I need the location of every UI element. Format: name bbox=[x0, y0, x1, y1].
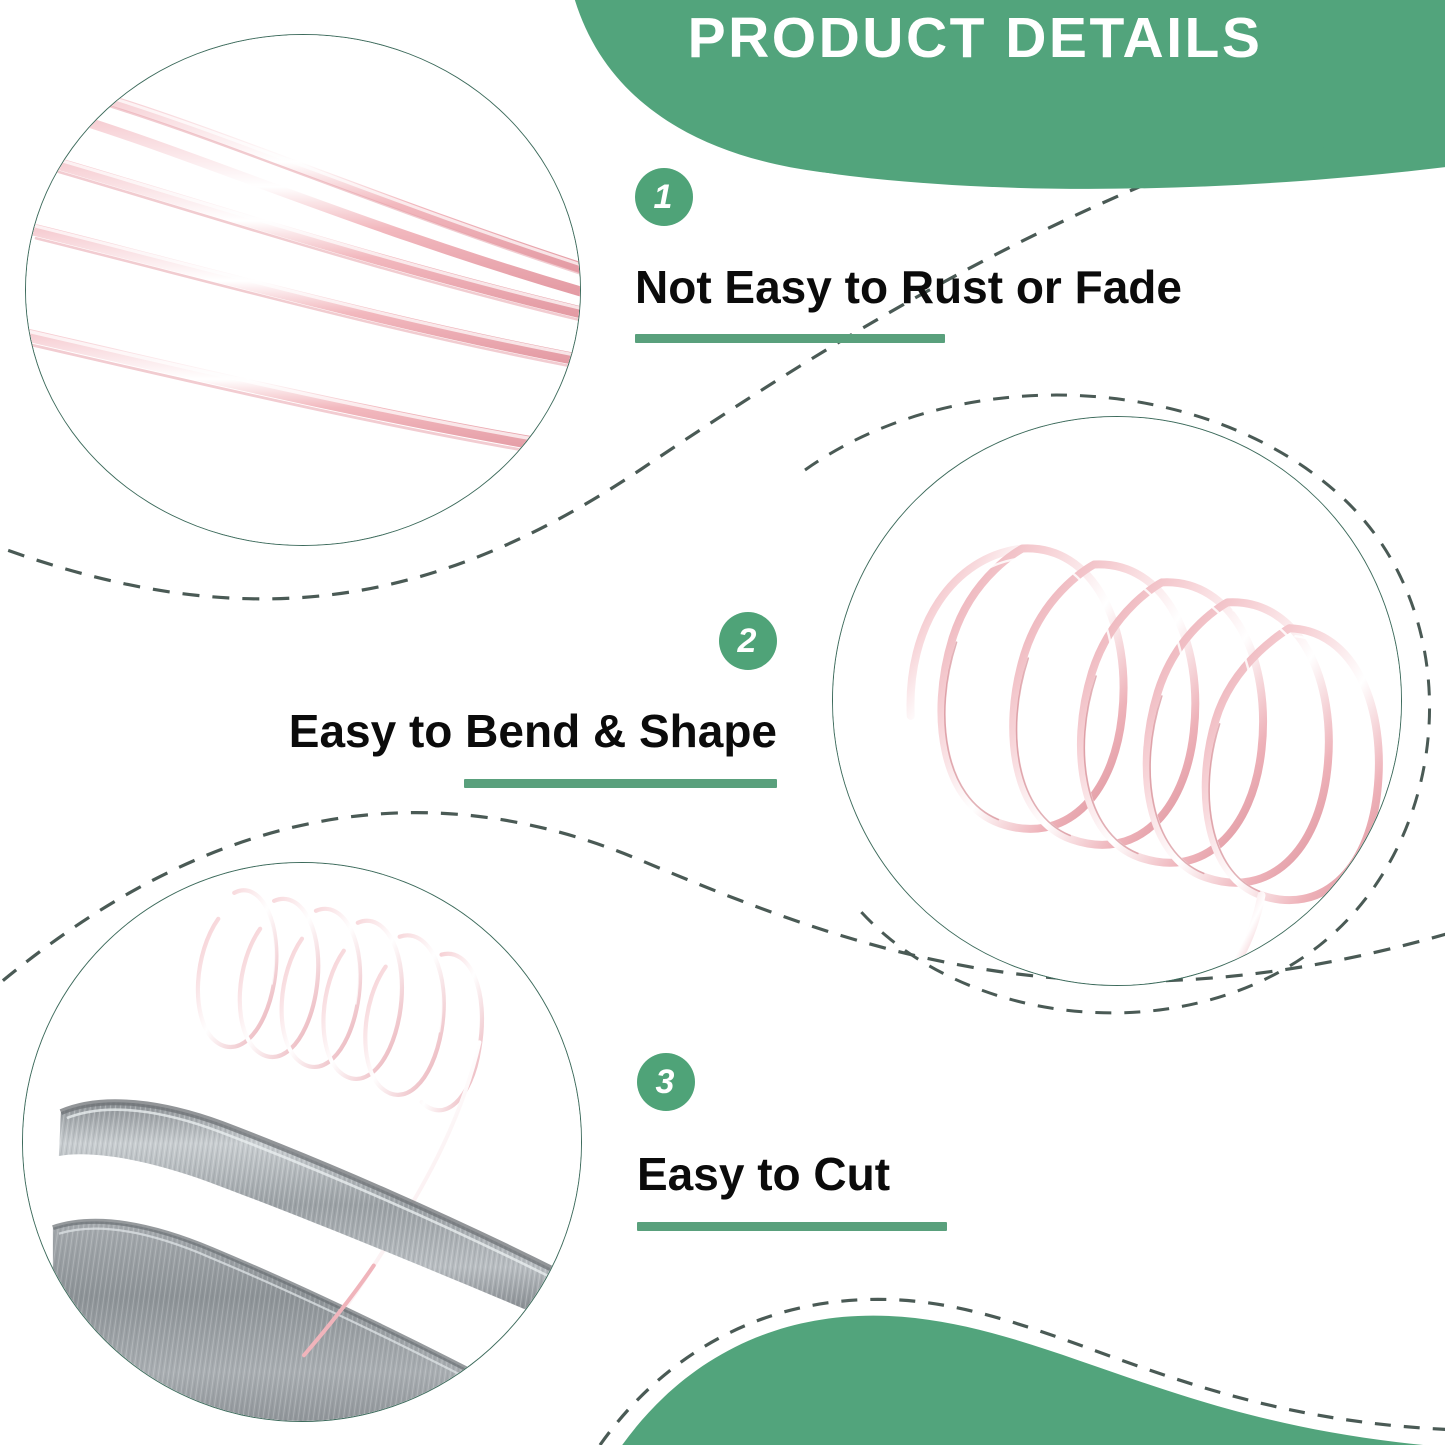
wire-strands-illustration bbox=[26, 35, 580, 545]
photo-scissors-cutting-wire bbox=[22, 862, 582, 1422]
feature-block-3: 3 Easy to Cut bbox=[637, 1053, 947, 1231]
feature-underline-2 bbox=[464, 779, 777, 788]
feature-badge-1: 1 bbox=[635, 168, 693, 226]
infographic-canvas: PRODUCT DETAILS bbox=[0, 0, 1445, 1445]
feature-badge-3: 3 bbox=[637, 1053, 695, 1111]
feature-title-1: Not Easy to Rust or Fade bbox=[635, 262, 1182, 313]
wire-coil-illustration bbox=[833, 417, 1401, 985]
feature-underline-3 bbox=[637, 1222, 947, 1231]
page-title: PRODUCT DETAILS bbox=[625, 6, 1325, 72]
feature-block-1: 1 Not Easy to Rust or Fade bbox=[635, 168, 1182, 343]
photo-pink-wire-coil bbox=[832, 416, 1402, 986]
photo-pink-wire-strands bbox=[25, 34, 581, 546]
feature-badge-2: 2 bbox=[719, 612, 777, 670]
feature-underline-1 bbox=[635, 334, 945, 343]
scissors-cut-illustration bbox=[23, 863, 581, 1421]
feature-block-2: 2 Easy to Bend & Shape bbox=[253, 612, 777, 788]
bottom-wave-shape bbox=[600, 1316, 1445, 1445]
feature-title-3: Easy to Cut bbox=[637, 1149, 947, 1200]
feature-title-2: Easy to Bend & Shape bbox=[253, 706, 777, 757]
